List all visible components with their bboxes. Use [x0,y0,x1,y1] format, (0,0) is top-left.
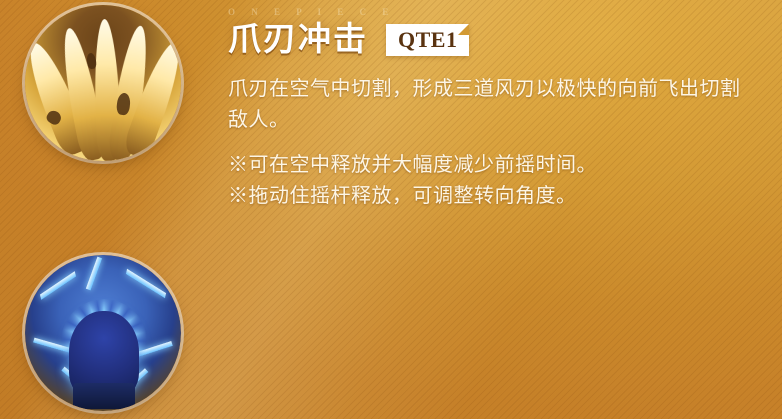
skill-notes: ※可在空中释放并大幅度减少前摇时间。 ※拖动住摇杆释放，可调整转向角度。 [228,150,748,212]
moon-lion-icon [25,255,181,411]
skill-title: 爪刃冲击 [228,20,368,60]
lion-base [73,383,135,409]
lightning-bolt [40,271,76,300]
skill-note: ※拖动住摇杆释放，可调整转向角度。 [228,181,748,212]
skill-note: ※可在空中释放并大幅度减少前摇时间。 [228,150,748,181]
title-row: 爪刃冲击 QTE1 [228,20,748,60]
claw-wind-blade-icon [25,5,181,161]
skill-text-column: O N E P I E C E 爪刃冲击 QTE1 爪刃在空气中切割，形成三道风… [228,6,748,212]
skill-description: 爪刃在空气中切割，形成三道风刃以极快的向前飞出切割敌人。 [228,74,748,136]
lightning-bolt [86,257,102,291]
lightning-bolt [126,269,166,299]
skill-icon-moon-lion-icon[interactable] [25,255,181,411]
eyebrow-label: O N E P I E C E [228,6,748,18]
qte-badge: QTE1 [386,24,469,56]
skill-entry: O N E P I E C E 爪刃冲击 QTE1 爪刃在空气中切割，形成三道风… [0,0,782,240]
skill-entry: O N E P I E C E 月狮降临 QTE2 化身为月狮形态。 [0,250,782,419]
skill-icon-claw-wind-blade-icon[interactable] [25,5,181,161]
skill-info-panel: O N E P I E C E 爪刃冲击 QTE1 爪刃在空气中切割，形成三道风… [0,0,782,419]
